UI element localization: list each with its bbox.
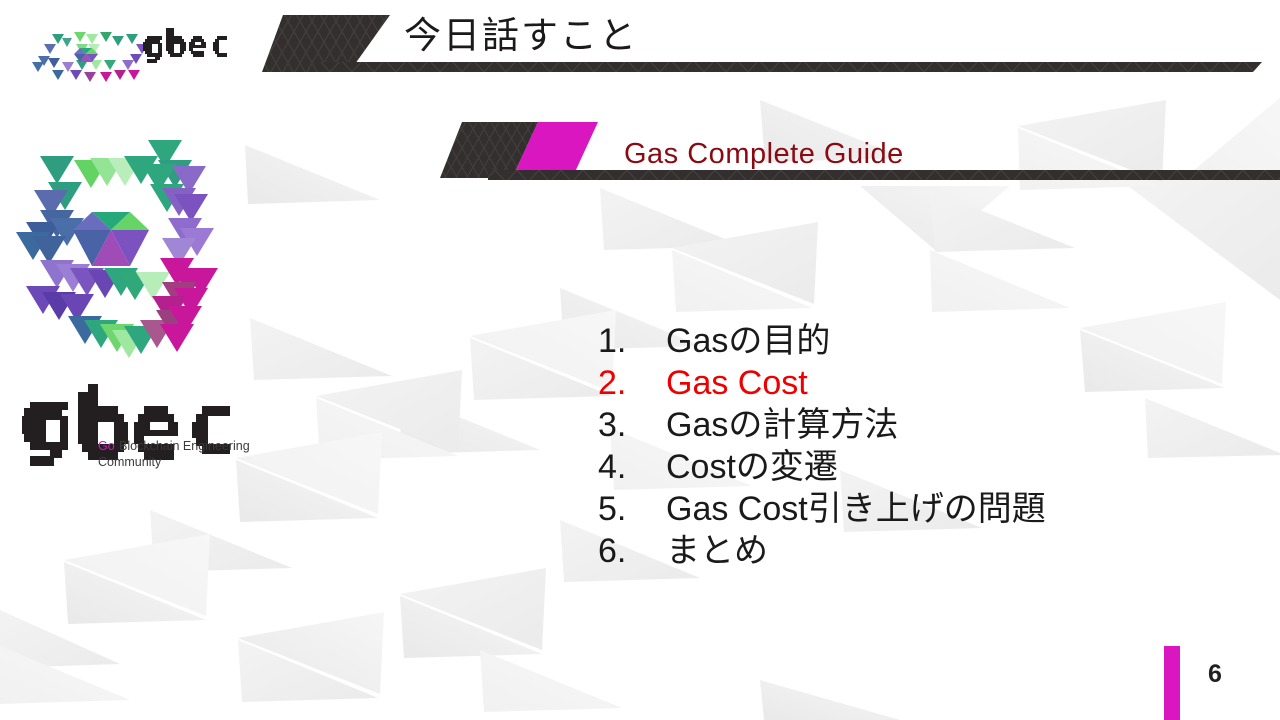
list-item: 4. Costの変遷 — [598, 446, 1198, 488]
magenta-accent-shape — [515, 122, 598, 172]
list-item: 2. Gas Cost — [598, 362, 1198, 404]
slide-canvas: 今日話すこと Gas Complete — [0, 0, 1280, 720]
gbec-side-logo: Go Blockchain Engineering Community — [22, 378, 250, 478]
gbec-hexagon-mosaic-icon — [12, 138, 242, 363]
list-item: 3. Gasの計算方法 — [598, 404, 1198, 446]
list-item-label: Gas Cost — [666, 362, 808, 404]
tagline-line1: Blockchain Engineering — [119, 439, 250, 453]
agenda-list: 1. Gasの目的 2. Gas Cost 3. Gasの計算方法 4. Cos… — [598, 320, 1198, 572]
page-number: 6 — [1208, 659, 1222, 689]
list-item-label: Costの変遷 — [666, 446, 838, 488]
gbec-header-logo — [18, 14, 262, 84]
list-item-label: Gasの目的 — [666, 320, 830, 362]
list-item-label: まとめ — [666, 530, 768, 572]
gbec-wordmark-text — [143, 28, 227, 63]
list-item-label: Gas Cost引き上げの問題 — [666, 488, 1046, 530]
page-number-accent-bar — [1164, 646, 1180, 720]
list-item-number: 3. — [598, 404, 666, 446]
list-item: 5. Gas Cost引き上げの問題 — [598, 488, 1198, 530]
list-item: 6. まとめ — [598, 530, 1198, 572]
page-title: 今日話すこと — [404, 14, 638, 58]
tagline-line2: Community — [98, 455, 162, 469]
list-item-number: 4. — [598, 446, 666, 488]
list-item-label: Gasの計算方法 — [666, 404, 898, 446]
list-item-number: 1. — [598, 320, 666, 362]
list-item-number: 6. — [598, 530, 666, 572]
gbec-hexagon-mosaic-small-icon — [32, 32, 148, 82]
gbec-wordmark-large — [22, 384, 230, 466]
list-item: 1. Gasの目的 — [598, 320, 1198, 362]
tagline-accent: Go — [98, 439, 115, 453]
subtitle-text: Gas Complete Guide — [624, 136, 904, 172]
list-item-number: 2. — [598, 362, 666, 404]
list-item-number: 5. — [598, 488, 666, 530]
